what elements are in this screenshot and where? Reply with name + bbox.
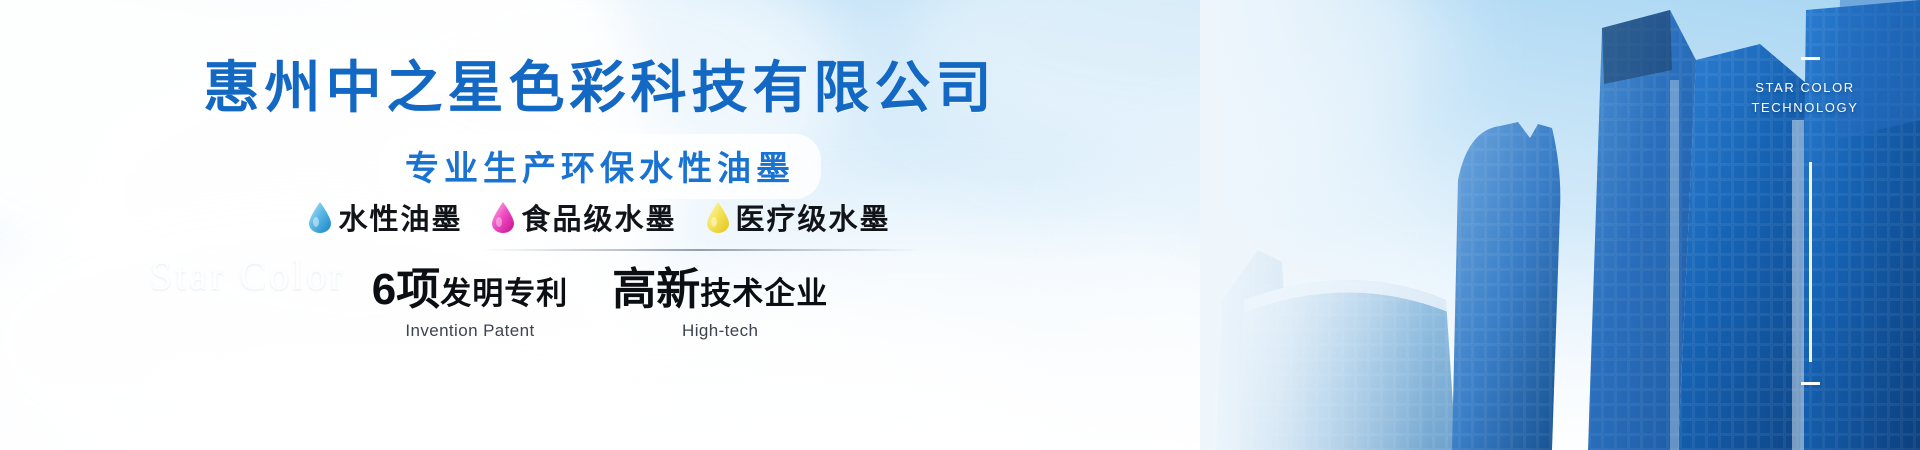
list-item: 食品级水墨 (492, 196, 676, 238)
feature-label: 水性油墨 (338, 196, 462, 238)
badge-high-tech: 高新技术企业 High-tech (612, 268, 828, 341)
badge-cn-line: 6项发明专利 (372, 268, 568, 312)
marker-vertical-line (1809, 162, 1812, 362)
badge-en-text: Invention Patent (372, 321, 568, 341)
subtitle-pill: 专业生产环保水性油墨 (379, 134, 821, 199)
feature-list: 水性油墨 食品级水墨 (0, 196, 1200, 238)
water-drop-icon (309, 202, 331, 233)
badge-list: 6项发明专利 Invention Patent 高新技术企业 High-tech (0, 268, 1200, 341)
badge-invention-patent: 6项发明专利 Invention Patent (372, 268, 568, 341)
subtitle-container: 专业生产环保水性油墨 (0, 134, 1200, 199)
badge-en-text: High-tech (612, 321, 828, 341)
badge-cn-line: 高新技术企业 (612, 268, 828, 312)
marker-tick-bottom (1801, 382, 1820, 385)
section-divider (481, 249, 921, 251)
badge-cn-text: 技术企业 (700, 276, 828, 311)
banner-content: 惠州中之星色彩科技有限公司 专业生产环保水性油墨 水性油墨 (0, 0, 1200, 450)
city-fade-overlay (1200, 0, 1430, 450)
feature-label: 食品级水墨 (521, 196, 676, 238)
badge-number: 6项 (372, 265, 440, 314)
building-brand-label: STAR COLOR TECHNOLOGY (1730, 78, 1880, 118)
page-title: 惠州中之星色彩科技有限公司 (0, 57, 1200, 119)
water-drop-icon (707, 202, 729, 233)
badge-headline: 高新 (612, 265, 700, 314)
badge-cn-text: 发明专利 (440, 276, 568, 311)
promo-banner: Star Color (0, 0, 1920, 450)
water-drop-icon (492, 202, 514, 233)
marker-tick-top (1801, 57, 1820, 60)
feature-label: 医疗级水墨 (736, 196, 891, 238)
list-item: 医疗级水墨 (707, 196, 891, 238)
list-item: 水性油墨 (309, 196, 462, 238)
